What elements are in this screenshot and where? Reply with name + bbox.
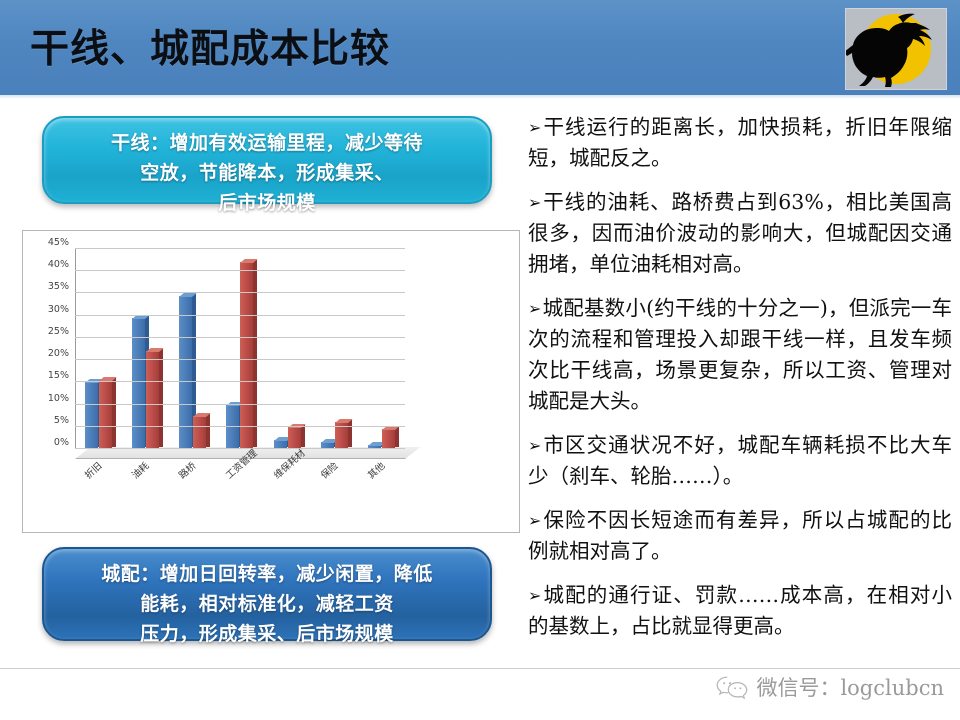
footer-divider: [0, 668, 960, 669]
chart-y-tick-label: 25%: [48, 326, 69, 334]
chart-gridline: [75, 337, 405, 338]
bullet-text: 干线运行的距离长，加快损耗，折旧年限缩短，城配反之。: [528, 115, 952, 170]
cost-comparison-chart: 0%5%10%15%20%25%30%35%40%45% 折旧油耗路桥工资管理维…: [22, 230, 520, 533]
chart-gridline: [75, 270, 405, 271]
callout-top-line-2: 空放，节能降本，形成集采、: [60, 158, 474, 188]
chart-gridline: [75, 292, 405, 293]
chart-y-tick-label: 40%: [48, 259, 69, 267]
bullet-item: ➢干线运行的距离长，加快损耗，折旧年限缩短，城配反之。: [528, 112, 952, 174]
callout-bottom-line-2: 能耗，相对标准化，减轻工资: [60, 589, 474, 619]
chart-bar-group: [361, 249, 401, 449]
chart-gridline: [75, 381, 405, 382]
bullet-text: 干线的油耗、路桥费占到63%，相比美国高很多，因而油价波动的影响大，但城配因交通…: [528, 190, 952, 276]
slide: 干线、城配成本比较 干线：增加有效运输里程，减少等待 空放，节能降本，形成集采、…: [0, 0, 960, 720]
callout-top-line-3: 后市场规模: [60, 188, 474, 218]
chart-bar-group: [220, 249, 260, 449]
bullet-arrow-icon: ➢: [528, 511, 541, 530]
chart-bars: [75, 249, 405, 449]
bullet-text: 市区交通状况不好，城配车辆耗损不比大车少（刹车、轮胎……）。: [528, 433, 952, 488]
pegasus-horse-icon: [846, 9, 946, 89]
page-title: 干线、城配成本比较: [30, 24, 390, 76]
bullet-arrow-icon: ➢: [528, 118, 541, 137]
callout-chengpei: 城配：增加日回转率，减少闲置，降低 能耗，相对标准化，减轻工资 压力，形成集采、…: [42, 547, 492, 641]
footer: 微信号：logclubcn: [715, 672, 944, 702]
callout-top-line-1: 干线：增加有效运输里程，减少等待: [60, 128, 474, 158]
chart-y-tick-label: 35%: [48, 281, 69, 289]
bullet-arrow-icon: ➢: [528, 586, 541, 605]
bullet-text: 保险不因长短途而有差异，所以占城配的比例就相对高了。: [528, 508, 952, 563]
chart-bar-group: [126, 249, 166, 449]
chart-y-tick-label: 5%: [54, 415, 69, 423]
bullet-item: ➢城配基数小(约干线的十分之一)，但派完一车次的流程和管理投入却跟干线一样，且发…: [528, 293, 952, 417]
chart-gridline: [75, 315, 405, 316]
bullet-arrow-icon: ➢: [528, 299, 541, 318]
chart-x-tick-label: 路桥: [175, 458, 198, 481]
chart-bar: [193, 416, 206, 449]
chart-bar: [382, 429, 395, 449]
bullet-list: ➢干线运行的距离长，加快损耗，折旧年限缩短，城配反之。➢干线的油耗、路桥费占到6…: [528, 112, 952, 655]
chart-bar-group: [267, 249, 307, 449]
callout-ganxian: 干线：增加有效运输里程，减少等待 空放，节能降本，形成集采、 后市场规模: [42, 116, 492, 204]
chart-y-tick-label: 10%: [48, 393, 69, 401]
bullet-arrow-icon: ➢: [528, 436, 541, 455]
bullet-item: ➢市区交通状况不好，城配车辆耗损不比大车少（刹车、轮胎……）。: [528, 430, 952, 492]
chart-gridline: [75, 404, 405, 405]
chart-x-axis-labels: 折旧油耗路桥工资管理维保耗材保险其他: [75, 467, 415, 522]
chart-gridline: [75, 448, 405, 449]
chart-bar-group: [173, 249, 213, 449]
chart-y-tick-label: 45%: [48, 237, 69, 245]
footer-text: 微信号：logclubcn: [756, 672, 944, 702]
chart-bar: [99, 380, 112, 449]
chart-bar: [85, 382, 98, 449]
chart-bar: [146, 351, 159, 449]
bullet-item: ➢保险不因长短途而有差异，所以占城配的比例就相对高了。: [528, 505, 952, 567]
chart-gridline: [75, 359, 405, 360]
callout-bottom-line-1: 城配：增加日回转率，减少闲置，降低: [60, 559, 474, 589]
chart-x-tick-label: 油耗: [128, 458, 151, 481]
chart-gridline: [75, 426, 405, 427]
bullet-arrow-icon: ➢: [528, 193, 541, 212]
chart-bar-group: [79, 249, 119, 449]
wechat-icon: [715, 675, 749, 699]
callout-bottom-line-3: 压力，形成集采、后市场规模: [60, 619, 474, 649]
bullet-item: ➢干线的油耗、路桥费占到63%，相比美国高很多，因而油价波动的影响大，但城配因交…: [528, 187, 952, 280]
chart-y-tick-label: 20%: [48, 348, 69, 356]
chart-y-tick-label: 15%: [48, 370, 69, 378]
chart-bar: [240, 262, 253, 449]
chart-y-axis-labels: 0%5%10%15%20%25%30%35%40%45%: [25, 241, 69, 441]
bullet-item: ➢城配的通行证、罚款……成本高，在相对小的基数上，占比就显得更高。: [528, 580, 952, 642]
chart-y-tick-label: 0%: [54, 437, 69, 445]
chart-plot-area: [75, 249, 405, 449]
bullet-text: 城配的通行证、罚款……成本高，在相对小的基数上，占比就显得更高。: [528, 583, 952, 638]
chart-bar-group: [314, 249, 354, 449]
chart-x-tick-label: 折旧: [81, 458, 104, 481]
bullet-text: 城配基数小(约干线的十分之一)，但派完一车次的流程和管理投入却跟干线一样，且发车…: [528, 296, 952, 413]
chart-x-tick-label: 保险: [317, 458, 340, 481]
chart-bar: [226, 405, 239, 449]
chart-gridline: [75, 248, 405, 249]
chart-y-tick-label: 30%: [48, 304, 69, 312]
pegasus-logo-icon: [845, 8, 947, 90]
chart-x-tick-label: 其他: [364, 458, 387, 481]
